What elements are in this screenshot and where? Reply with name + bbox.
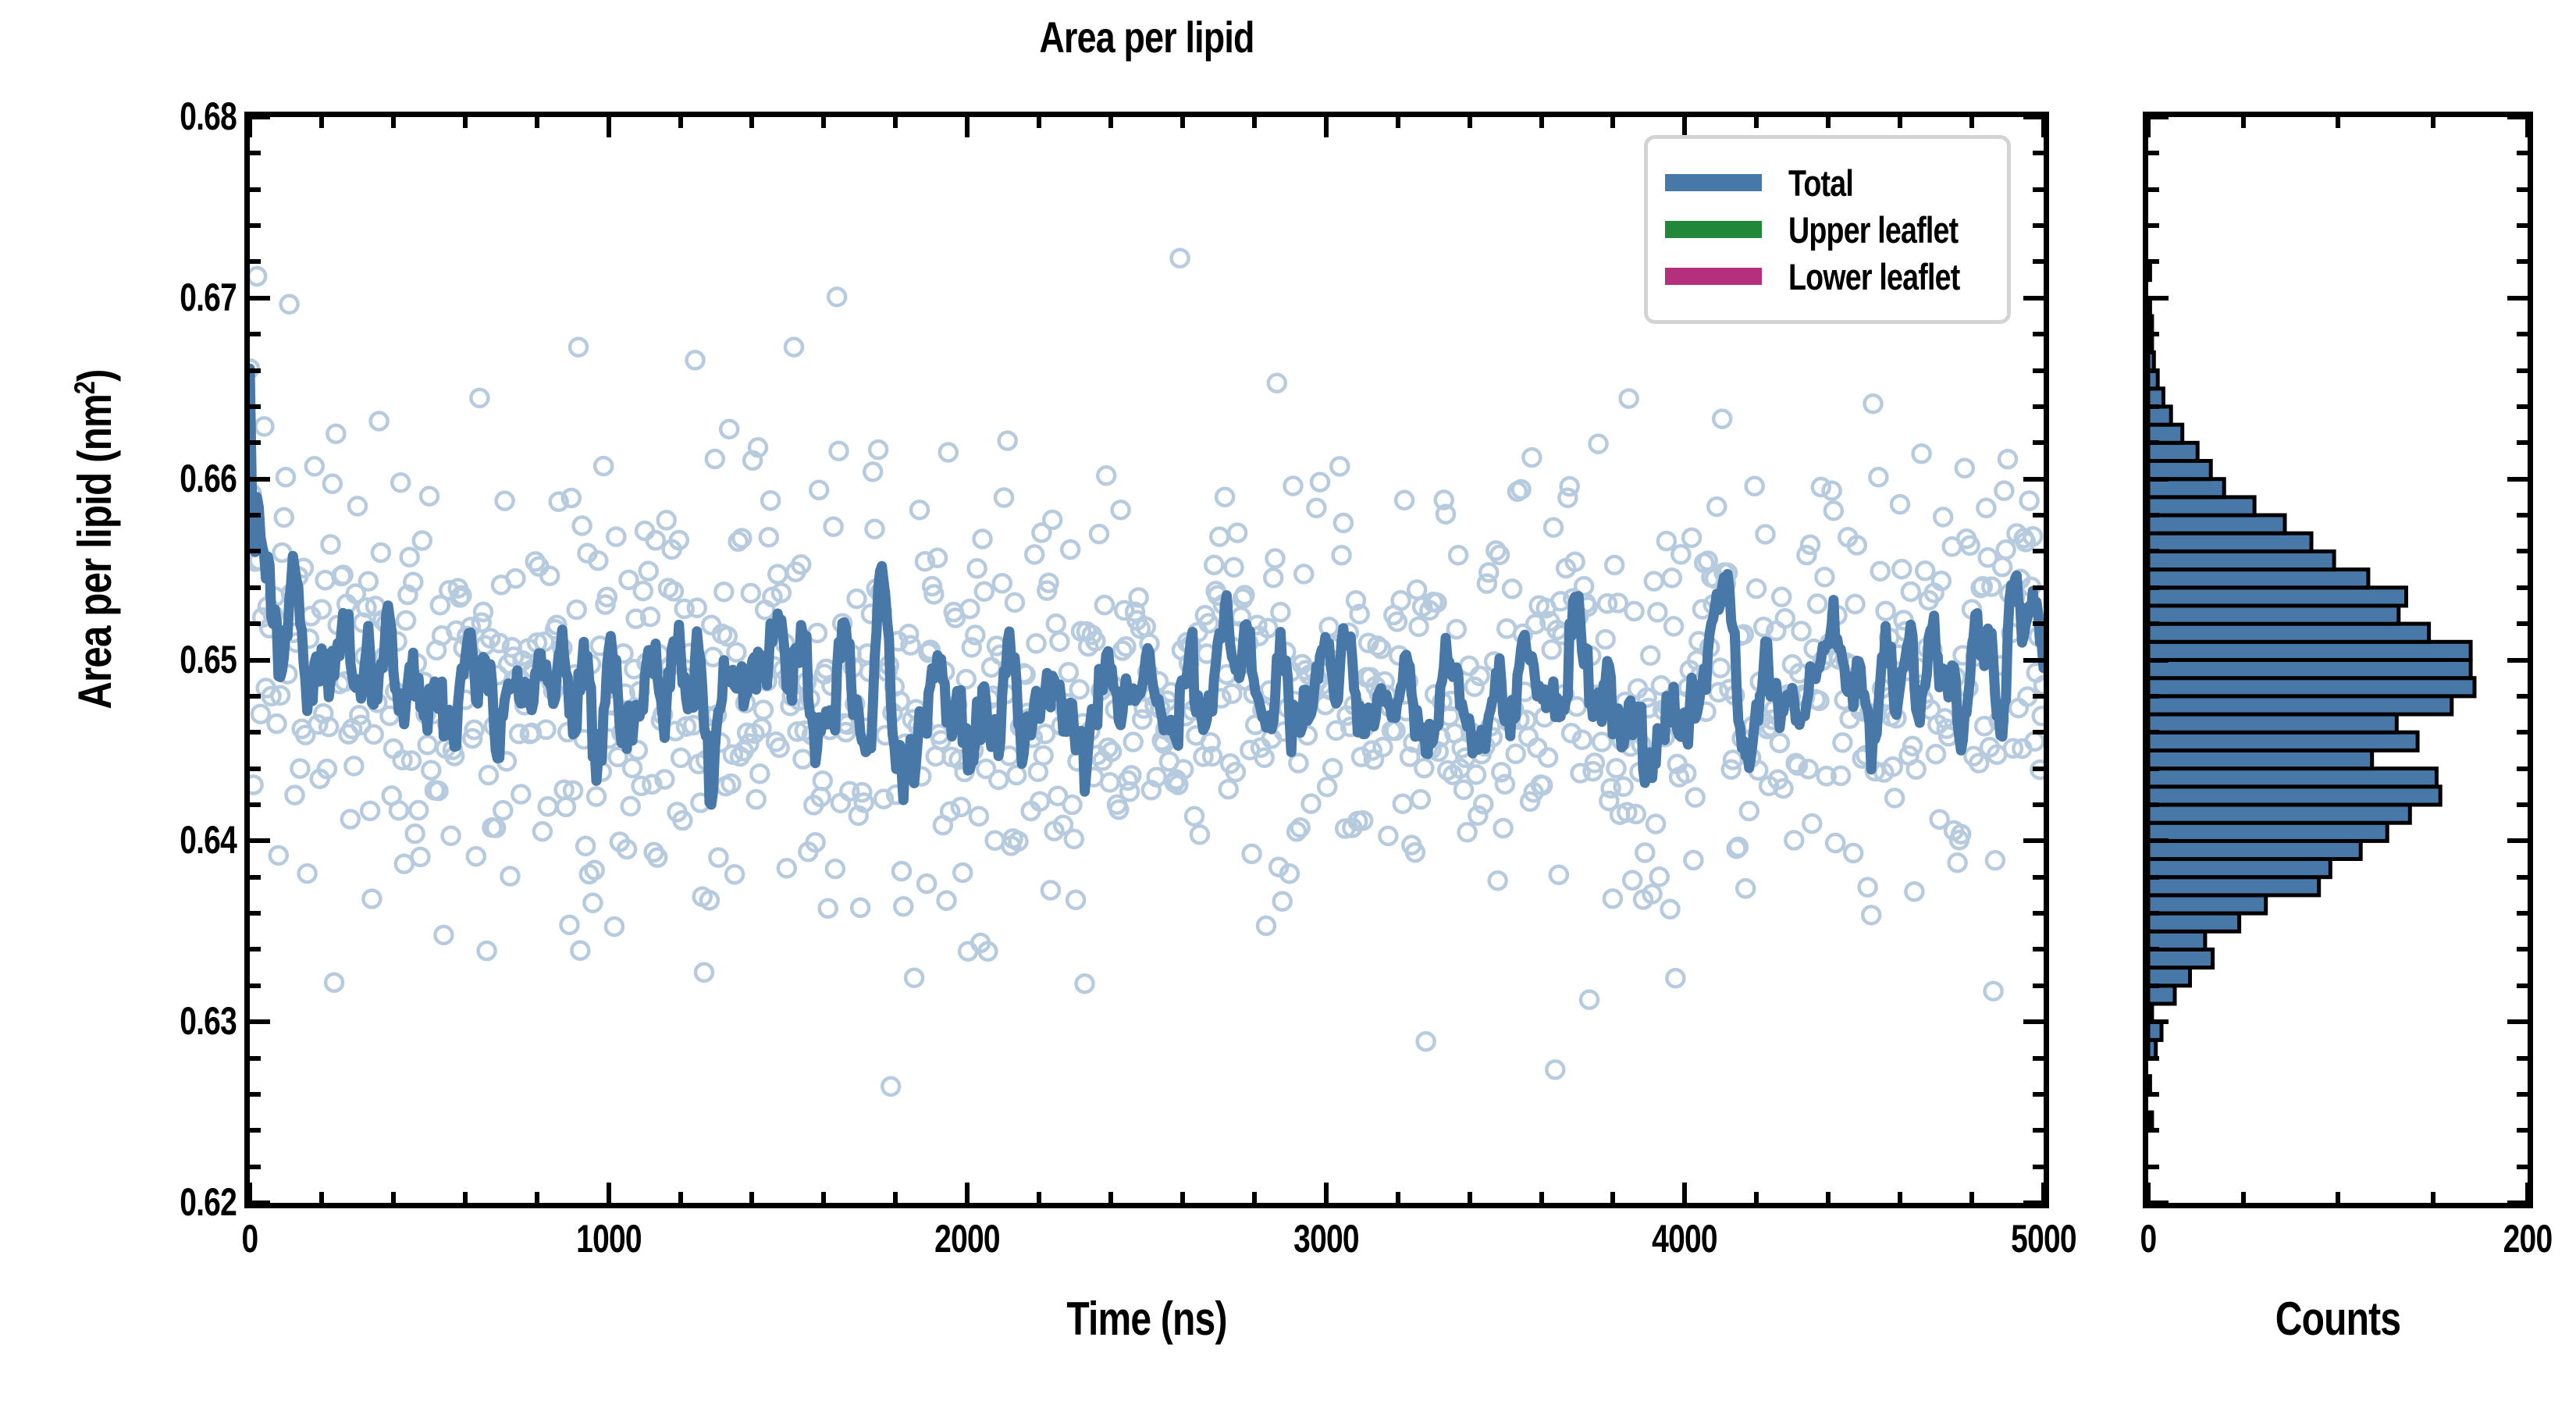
hist-y-minor-tick-right — [2517, 911, 2528, 916]
hist-y-minor-tick — [2148, 911, 2159, 916]
figure-canvas: Area per lipid 0.680.670.660.650.640.630… — [0, 0, 2576, 1405]
hist-y-minor-tick — [2148, 1056, 2159, 1061]
y-minor-tick-right — [2033, 1056, 2044, 1061]
hist-y-minor-tick-right — [2517, 875, 2528, 880]
y-minor-tick-right — [2033, 332, 2044, 336]
hist-y-minor-tick — [2148, 1165, 2159, 1169]
legend-item-lower-leaflet[interactable]: Lower leaflet — [1665, 253, 1990, 300]
y-major-tick — [250, 477, 270, 482]
hist-y-minor-tick — [2148, 730, 2159, 735]
hist-y-minor-tick — [2148, 802, 2159, 807]
hist-y-minor-tick — [2148, 151, 2159, 155]
y-minor-tick-right — [2033, 983, 2044, 988]
histogram-plot-area — [2148, 117, 2528, 1203]
x-tick-label: 1000 — [518, 1219, 700, 1258]
hist-y-minor-tick-right — [2517, 1092, 2528, 1097]
x-minor-tick-top — [749, 117, 754, 128]
hist-y-minor-tick — [2148, 259, 2159, 264]
y-minor-tick — [250, 440, 261, 445]
legend-swatch-upper-leaflet — [1665, 221, 1762, 238]
page-title: Area per lipid — [425, 16, 1869, 59]
x-minor-tick — [1468, 1192, 1472, 1203]
legend-item-total[interactable]: Total — [1665, 159, 1990, 206]
hist-x-minor-tick-top — [2431, 117, 2435, 128]
x-minor-tick — [1108, 1192, 1113, 1203]
hist-y-minor-tick — [2148, 187, 2159, 192]
x-minor-tick-top — [1610, 117, 1615, 128]
y-minor-tick-right — [2033, 151, 2044, 155]
x-minor-tick-top — [1108, 117, 1113, 128]
y-major-tick — [250, 658, 270, 663]
x-minor-tick — [1037, 1192, 1041, 1203]
y-major-tick — [250, 296, 270, 301]
x-minor-tick — [1252, 1192, 1257, 1203]
hist-y-minor-tick — [2148, 332, 2159, 336]
hist-y-minor-tick-right — [2517, 694, 2528, 699]
y-minor-tick — [250, 585, 261, 590]
y-minor-tick-right — [2033, 585, 2044, 590]
y-minor-tick-right — [2033, 368, 2044, 373]
hist-x-minor-tick — [2241, 1192, 2246, 1203]
y-minor-tick — [250, 332, 261, 336]
x-tick-label: 0 — [158, 1219, 341, 1258]
legend-item-upper-leaflet[interactable]: Upper leaflet — [1665, 206, 1990, 253]
y-major-tick-right — [2023, 296, 2044, 301]
y-minor-tick-right — [2033, 187, 2044, 192]
y-minor-tick — [250, 368, 261, 373]
hist-y-major-tick — [2148, 658, 2169, 663]
hist-y-minor-tick-right — [2517, 368, 2528, 373]
hist-y-minor-tick — [2148, 549, 2159, 553]
x-minor-tick-top — [1396, 117, 1400, 128]
x-minor-tick — [678, 1192, 683, 1203]
hist-x-minor-tick — [2431, 1192, 2435, 1203]
hist-y-minor-tick-right — [2517, 332, 2528, 336]
x-minor-tick — [1826, 1192, 1831, 1203]
hist-y-minor-tick — [2148, 585, 2159, 590]
x-minor-tick — [749, 1192, 754, 1203]
hist-y-major-tick-right — [2507, 1019, 2528, 1024]
hist-x-major-tick-top — [2146, 117, 2151, 137]
hist-y-minor-tick-right — [2517, 947, 2528, 951]
y-minor-tick-right — [2033, 802, 2044, 807]
hist-y-minor-tick — [2148, 404, 2159, 409]
x-major-tick — [1682, 1183, 1687, 1203]
y-minor-tick — [250, 621, 261, 626]
y-major-tick — [250, 1019, 270, 1024]
x-minor-tick-top — [391, 117, 396, 128]
x-tick-label: 2000 — [876, 1219, 1059, 1258]
hist-y-minor-tick-right — [2517, 440, 2528, 445]
hist-y-major-tick — [2148, 1019, 2169, 1024]
y-minor-tick — [250, 767, 261, 771]
x-major-tick — [607, 1183, 611, 1203]
y-minor-tick-right — [2033, 875, 2044, 880]
y-minor-tick-right — [2033, 440, 2044, 445]
y-minor-tick — [250, 802, 261, 807]
x-minor-tick — [821, 1192, 826, 1203]
y-minor-tick — [250, 730, 261, 735]
x-tick-label: 4000 — [1593, 1219, 1776, 1258]
x-minor-tick — [1969, 1192, 1974, 1203]
hist-y-minor-tick-right — [2517, 1056, 2528, 1061]
y-major-tick-right — [2023, 477, 2044, 482]
y-minor-tick — [250, 694, 261, 699]
hist-y-minor-tick — [2148, 368, 2159, 373]
y-minor-tick — [250, 223, 261, 228]
x-minor-tick-top — [893, 117, 898, 128]
hist-y-minor-tick — [2148, 694, 2159, 699]
hist-y-minor-tick — [2148, 513, 2159, 518]
hist-x-tick-label: 200 — [2436, 1219, 2576, 1258]
y-minor-tick — [250, 513, 261, 518]
hist-y-major-tick-right — [2507, 296, 2528, 301]
hist-y-major-tick — [2148, 838, 2169, 843]
x-minor-tick-top — [678, 117, 683, 128]
hist-y-major-tick — [2148, 296, 2169, 301]
hist-y-minor-tick — [2148, 621, 2159, 626]
y-minor-tick — [250, 983, 261, 988]
hist-y-minor-tick-right — [2517, 259, 2528, 264]
hist-y-minor-tick-right — [2517, 549, 2528, 553]
y-minor-tick — [250, 911, 261, 916]
y-minor-tick — [250, 259, 261, 264]
x-minor-tick-top — [1898, 117, 1902, 128]
x-axis-title: Time (ns) — [425, 1296, 1869, 1343]
hist-y-minor-tick — [2148, 875, 2159, 880]
hist-y-major-tick-right — [2507, 658, 2528, 663]
hist-y-minor-tick-right — [2517, 513, 2528, 518]
histogram-bars-total — [2148, 262, 2475, 1131]
x-minor-tick — [319, 1192, 324, 1203]
y-minor-tick — [250, 875, 261, 880]
x-minor-tick-top — [1969, 117, 1974, 128]
hist-y-minor-tick-right — [2517, 1165, 2528, 1169]
legend-swatch-lower-leaflet — [1665, 268, 1762, 285]
x-major-tick-top — [2041, 117, 2046, 137]
hist-y-minor-tick — [2148, 1128, 2159, 1133]
x-minor-tick — [1539, 1192, 1544, 1203]
hist-y-minor-tick-right — [2517, 404, 2528, 409]
y-minor-tick-right — [2033, 1165, 2044, 1169]
x-minor-tick-top — [1826, 117, 1831, 128]
x-minor-tick — [463, 1192, 468, 1203]
x-minor-tick — [1754, 1192, 1759, 1203]
y-minor-tick-right — [2033, 1128, 2044, 1133]
hist-y-major-tick — [2148, 477, 2169, 482]
x-minor-tick — [1396, 1192, 1400, 1203]
y-major-tick — [250, 115, 270, 119]
x-minor-tick-top — [1754, 117, 1759, 128]
hist-y-minor-tick-right — [2517, 1128, 2528, 1133]
y-tick-label: 0.62 — [84, 1183, 237, 1222]
y-axis-title: Area per lipid (nm2) — [72, 219, 119, 859]
x-minor-tick-top — [535, 117, 539, 128]
x-major-tick-top — [247, 117, 252, 137]
hist-y-minor-tick-right — [2517, 730, 2528, 735]
y-minor-tick — [250, 1165, 261, 1169]
x-minor-tick-top — [1180, 117, 1185, 128]
hist-y-minor-tick-right — [2517, 187, 2528, 192]
y-minor-tick — [250, 1092, 261, 1097]
y-minor-tick-right — [2033, 1092, 2044, 1097]
y-minor-tick — [250, 1056, 261, 1061]
x-major-tick-top — [1324, 117, 1329, 137]
x-minor-tick — [1898, 1192, 1902, 1203]
y-major-tick-right — [2023, 838, 2044, 843]
hist-y-minor-tick — [2148, 440, 2159, 445]
y-minor-tick-right — [2033, 621, 2044, 626]
x-minor-tick — [893, 1192, 898, 1203]
legend-swatch-total — [1665, 174, 1762, 191]
hist-y-minor-tick — [2148, 947, 2159, 951]
y-tick-label: 0.68 — [84, 97, 237, 136]
hist-y-minor-tick-right — [2517, 983, 2528, 988]
y-minor-tick — [250, 549, 261, 553]
x-minor-tick-top — [821, 117, 826, 128]
y-minor-tick-right — [2033, 404, 2044, 409]
x-major-tick — [1324, 1183, 1329, 1203]
hist-y-major-tick — [2148, 1200, 2169, 1205]
y-major-tick-right — [2023, 658, 2044, 663]
x-minor-tick-top — [1037, 117, 1041, 128]
y-minor-tick-right — [2033, 549, 2044, 553]
hist-y-minor-tick — [2148, 767, 2159, 771]
y-minor-tick-right — [2033, 730, 2044, 735]
x-minor-tick — [535, 1192, 539, 1203]
y-minor-tick — [250, 1128, 261, 1133]
y-minor-tick-right — [2033, 911, 2044, 916]
x-major-tick — [2041, 1183, 2046, 1203]
x-minor-tick-top — [463, 117, 468, 128]
legend-label-upper-leaflet: Upper leaflet — [1788, 212, 1958, 248]
legend-label-total: Total — [1788, 165, 1853, 201]
x-major-tick — [965, 1183, 970, 1203]
legend-label-lower-leaflet: Lower leaflet — [1788, 258, 1959, 295]
hist-x-minor-tick — [2336, 1192, 2340, 1203]
y-minor-tick-right — [2033, 947, 2044, 951]
x-major-tick — [247, 1183, 252, 1203]
hist-y-minor-tick — [2148, 983, 2159, 988]
histogram-svg — [2148, 117, 2528, 1203]
x-minor-tick — [1610, 1192, 1615, 1203]
x-tick-label: 3000 — [1235, 1219, 1418, 1258]
hist-y-major-tick-right — [2507, 838, 2528, 843]
hist-x-major-tick — [2525, 1183, 2530, 1203]
hist-y-minor-tick-right — [2517, 585, 2528, 590]
hist-y-major-tick — [2148, 115, 2169, 119]
y-tick-label: 0.63 — [84, 1001, 237, 1040]
x-major-tick-top — [607, 117, 611, 137]
hist-y-minor-tick — [2148, 223, 2159, 228]
legend[interactable]: Total Upper leaflet Lower leaflet — [1644, 135, 2011, 324]
x-minor-tick — [391, 1192, 396, 1203]
y-minor-tick — [250, 404, 261, 409]
x-minor-tick-top — [1539, 117, 1544, 128]
hist-x-major-tick-top — [2525, 117, 2530, 137]
hist-y-minor-tick-right — [2517, 223, 2528, 228]
y-minor-tick-right — [2033, 259, 2044, 264]
hist-x-tick-label: 0 — [2057, 1219, 2240, 1258]
hist-y-minor-tick-right — [2517, 767, 2528, 771]
histogram-panel — [2143, 112, 2533, 1208]
y-major-tick — [250, 838, 270, 843]
hist-y-minor-tick — [2148, 1092, 2159, 1097]
histogram-x-axis-title: Counts — [2182, 1296, 2494, 1343]
y-minor-tick-right — [2033, 513, 2044, 518]
x-minor-tick-top — [319, 117, 324, 128]
x-minor-tick-top — [1252, 117, 1257, 128]
hist-y-major-tick-right — [2507, 477, 2528, 482]
y-minor-tick — [250, 187, 261, 192]
y-minor-tick-right — [2033, 223, 2044, 228]
y-minor-tick-right — [2033, 767, 2044, 771]
y-major-tick — [250, 1200, 270, 1205]
y-major-tick-right — [2023, 1019, 2044, 1024]
x-minor-tick-top — [1468, 117, 1472, 128]
hist-x-minor-tick-top — [2241, 117, 2246, 128]
x-minor-tick — [1180, 1192, 1185, 1203]
hist-y-minor-tick-right — [2517, 621, 2528, 626]
y-minor-tick — [250, 151, 261, 155]
hist-x-major-tick — [2146, 1183, 2151, 1203]
hist-x-minor-tick-top — [2336, 117, 2340, 128]
hist-y-minor-tick-right — [2517, 151, 2528, 155]
y-minor-tick — [250, 947, 261, 951]
y-minor-tick-right — [2033, 694, 2044, 699]
x-major-tick-top — [965, 117, 970, 137]
hist-y-minor-tick-right — [2517, 802, 2528, 807]
